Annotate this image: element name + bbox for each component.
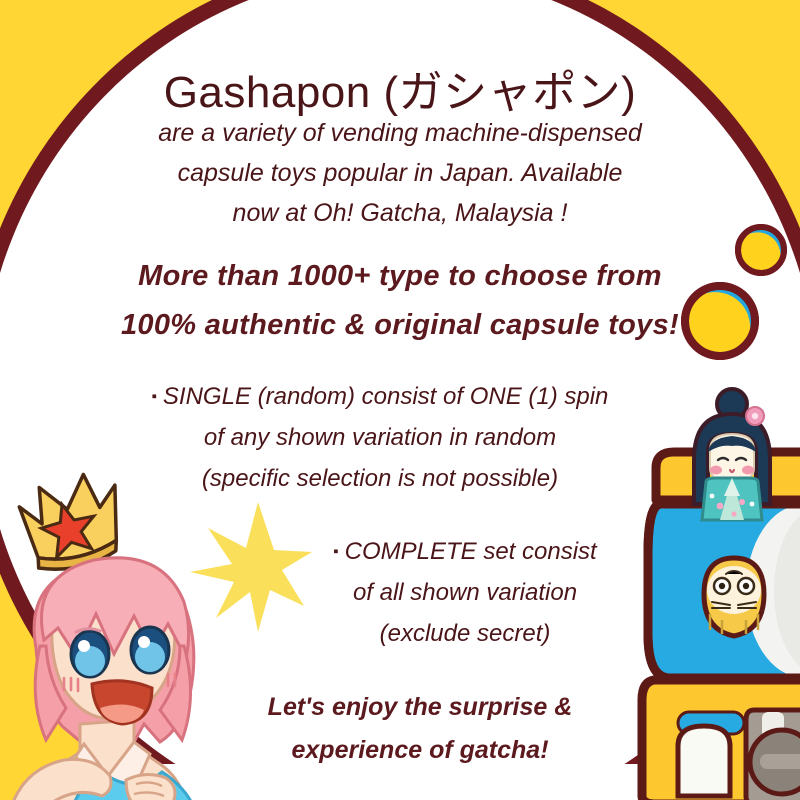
bullet-single: ▪SINGLE (random) consist of ONE (1) spin… [110,376,650,499]
bullet-line: (exclude secret) [255,613,675,654]
kokeshi-doll-icon [676,386,792,520]
bullet-single-first-line: ▪SINGLE (random) consist of ONE (1) spin [110,376,650,417]
subtitle-line: are a variety of vending machine-dispens… [0,113,800,153]
bullet-complete-first-line: ▪COMPLETE set consist [255,531,675,572]
subtitle-line: capsule toys popular in Japan. Available [0,153,800,193]
bullet-line: (specific selection is not possible) [110,458,650,499]
headline-line: 100% authentic & original capsule toys! [0,301,800,350]
bullet-line: COMPLETE set consist [345,538,597,565]
page-title: Gashapon (ガシャポン) [0,56,800,120]
bullet-line: of any shown variation in random [110,417,650,458]
subtitle-block: are a variety of vending machine-dispens… [0,113,800,233]
bullet-line: SINGLE (random) consist of ONE (1) spin [163,383,608,410]
bullet-marker-icon: ▪ [333,543,338,560]
bullet-line: of all shown variation [255,572,675,613]
gashapon-poster: Gashapon (ガシャポン) are a variety of vendin… [0,0,800,800]
bullet-marker-icon: ▪ [152,388,157,405]
bullet-complete: ▪COMPLETE set consist of all shown varia… [255,531,675,654]
daruma-icon [704,558,764,636]
headline-line: More than 1000+ type to choose from [0,252,800,301]
anime-girl-character [0,528,284,800]
subtitle-line: now at Oh! Gatcha, Malaysia ! [0,193,800,233]
headline-block: More than 1000+ type to choose from 100%… [0,252,800,350]
flower-ornament-icon [746,407,764,425]
